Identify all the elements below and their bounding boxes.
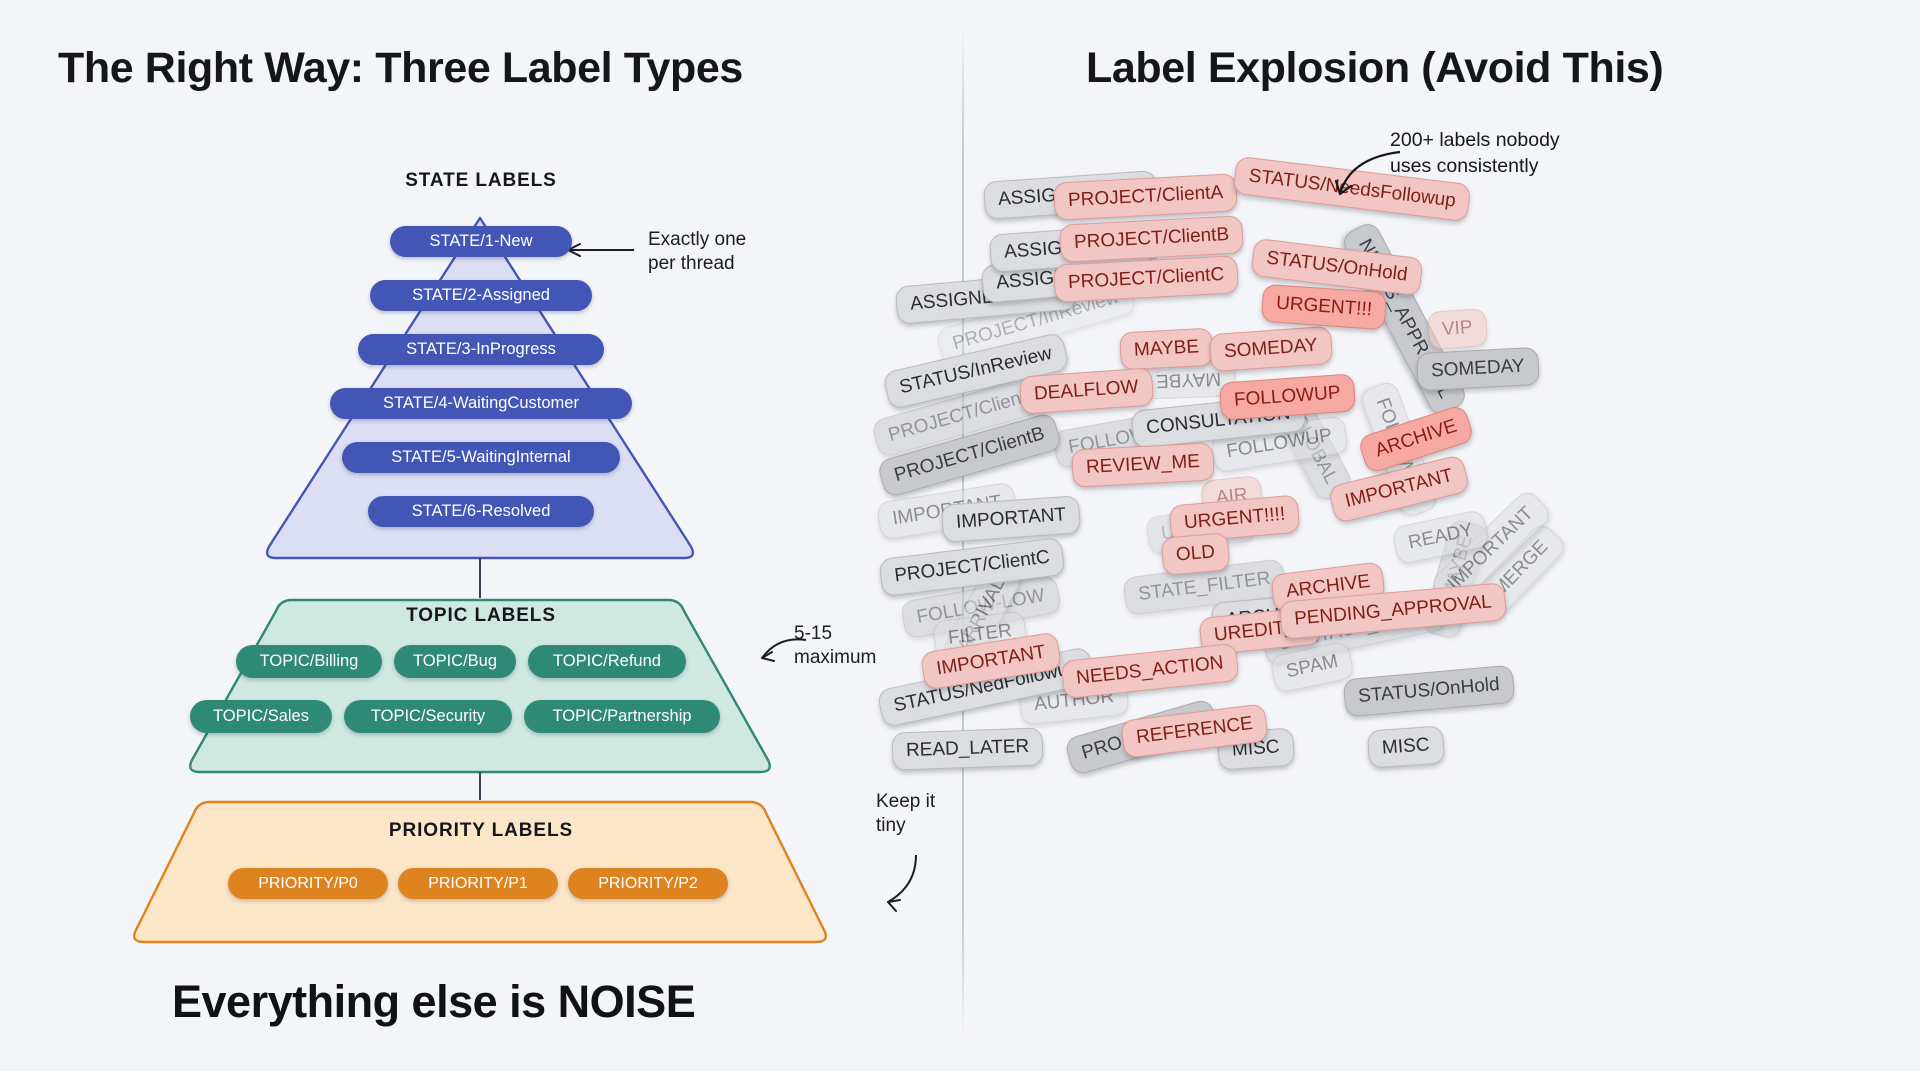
- chaos-label[interactable]: READ_LATER: [891, 727, 1043, 770]
- chaos-label[interactable]: MISC: [1367, 725, 1445, 768]
- topic-chip-refund[interactable]: TOPIC/Refund: [528, 645, 686, 678]
- annotation-priority: Keep it tiny: [876, 790, 935, 839]
- topic-chip-bug[interactable]: TOPIC/Bug: [394, 645, 516, 678]
- state-chip-6[interactable]: STATE/6-Resolved: [368, 496, 594, 527]
- chaos-label-text: READ_LATER: [906, 736, 1030, 762]
- chaos-label-text: URGENT!!!: [1275, 293, 1372, 322]
- priority-chip-p0[interactable]: PRIORITY/P0: [228, 868, 388, 899]
- annotation-topic: 5-15 maximum: [794, 622, 876, 671]
- chaos-label[interactable]: DEALFLOW: [1019, 367, 1154, 414]
- priority-chip-p1[interactable]: PRIORITY/P1: [398, 868, 558, 899]
- chaos-label-text: SPAM: [1284, 651, 1340, 683]
- annotation-label-count-line2: uses consistently: [1390, 155, 1539, 177]
- chaos-label[interactable]: MAYBE: [1119, 328, 1214, 371]
- chaos-label[interactable]: IMPORTANT: [941, 495, 1081, 543]
- chaos-label[interactable]: STATUS/OnHold: [1343, 665, 1516, 718]
- chaos-label-text: NEEDS_ACTION: [1075, 652, 1224, 689]
- diagram-canvas: The Right Way: Three Label Types STA: [0, 0, 1920, 1071]
- annotation-label-count: 200+ labels nobody uses consistently: [1390, 128, 1560, 179]
- chaos-label-text: SOMEDAY: [1430, 356, 1525, 383]
- topic-chip-security[interactable]: TOPIC/Security: [344, 700, 512, 733]
- chaos-label-text: URGENT!!!!: [1183, 504, 1286, 535]
- chaos-label[interactable]: OLD: [1160, 532, 1230, 576]
- topic-chip-sales[interactable]: TOPIC/Sales: [190, 700, 332, 733]
- annotation-priority-line2: tiny: [876, 815, 906, 836]
- chaos-label[interactable]: REVIEW_ME: [1071, 442, 1215, 487]
- chaos-label-text: OLD: [1175, 541, 1216, 566]
- chaos-label-text: DEALFLOW: [1033, 376, 1139, 405]
- annotation-state-line1: Exactly one: [648, 229, 746, 250]
- priority-chip-p2[interactable]: PRIORITY/P2: [568, 868, 728, 899]
- chaos-label[interactable]: VIP: [1427, 308, 1488, 350]
- left-panel-footer: Everything else is NOISE: [172, 976, 695, 1028]
- annotation-state: Exactly one per thread: [648, 228, 746, 277]
- chaos-label-text: REVIEW_ME: [1086, 451, 1201, 479]
- chaos-label-text: READY: [1406, 519, 1475, 554]
- chaos-label[interactable]: NEEDS_ACTION: [1060, 643, 1239, 699]
- chaos-label-text: REFERENCE: [1135, 713, 1254, 749]
- chaos-label-text: STATUS/OnHold: [1265, 247, 1408, 286]
- chaos-label-text: PENDING_APPROVAL: [1293, 591, 1492, 630]
- annotation-topic-line1: 5-15: [794, 623, 832, 644]
- annotation-state-line2: per thread: [648, 253, 735, 274]
- label-pyramid: STATE LABELS STATE/1-New STATE/2-Assigne…: [0, 0, 962, 1071]
- chaos-label-text: SOMEDAY: [1223, 335, 1318, 363]
- topic-chip-partnership[interactable]: TOPIC/Partnership: [524, 700, 720, 733]
- state-chip-2[interactable]: STATE/2-Assigned: [370, 280, 592, 311]
- chaos-label[interactable]: FOLLOWUP: [1219, 373, 1356, 420]
- chaos-label-text: PROJECT/ClientC: [1068, 264, 1225, 294]
- chaos-label-text: IMPORTANT: [955, 504, 1066, 534]
- state-chip-4[interactable]: STATE/4-WaitingCustomer: [330, 388, 632, 419]
- chaos-label-text: STATUS/OnHold: [1357, 674, 1500, 708]
- annotation-label-count-line1: 200+ labels nobody: [1390, 129, 1560, 151]
- chaos-label-text: PROJECT/ClientB: [1074, 224, 1230, 254]
- topic-chip-billing[interactable]: TOPIC/Billing: [236, 645, 382, 678]
- tier-title-priority: PRIORITY LABELS: [0, 820, 962, 842]
- state-chip-1[interactable]: STATE/1-New: [390, 226, 572, 257]
- chaos-label-text: MISC: [1381, 734, 1430, 759]
- tier-title-state: STATE LABELS: [0, 170, 962, 192]
- state-chip-3[interactable]: STATE/3-InProgress: [358, 334, 604, 365]
- chaos-label-text: VIP: [1441, 317, 1473, 341]
- chaos-label-text: MAYBE: [1156, 367, 1222, 391]
- chaos-label[interactable]: SOMEDAY: [1209, 326, 1333, 372]
- chaos-label-text: PROJECT/ClientA: [1068, 182, 1224, 212]
- chaos-label-text: IMPORTANT: [1343, 465, 1455, 513]
- chaos-label[interactable]: PROJECT/ClientA: [1053, 173, 1238, 221]
- label-explosion-cloud: 200+ labels nobody uses consistently ASS…: [962, 0, 1920, 1071]
- chaos-label[interactable]: URGENT!!!: [1261, 284, 1387, 331]
- chaos-label[interactable]: SOMEDAY: [1416, 347, 1539, 391]
- annotation-topic-line2: maximum: [794, 647, 876, 668]
- state-chip-5[interactable]: STATE/5-WaitingInternal: [342, 442, 620, 473]
- annotation-priority-line1: Keep it: [876, 791, 935, 812]
- chaos-label-text: MAYBE: [1133, 336, 1199, 361]
- pyramid-shapes: [0, 0, 962, 1071]
- chaos-label-text: FOLLOWUP: [1233, 382, 1341, 411]
